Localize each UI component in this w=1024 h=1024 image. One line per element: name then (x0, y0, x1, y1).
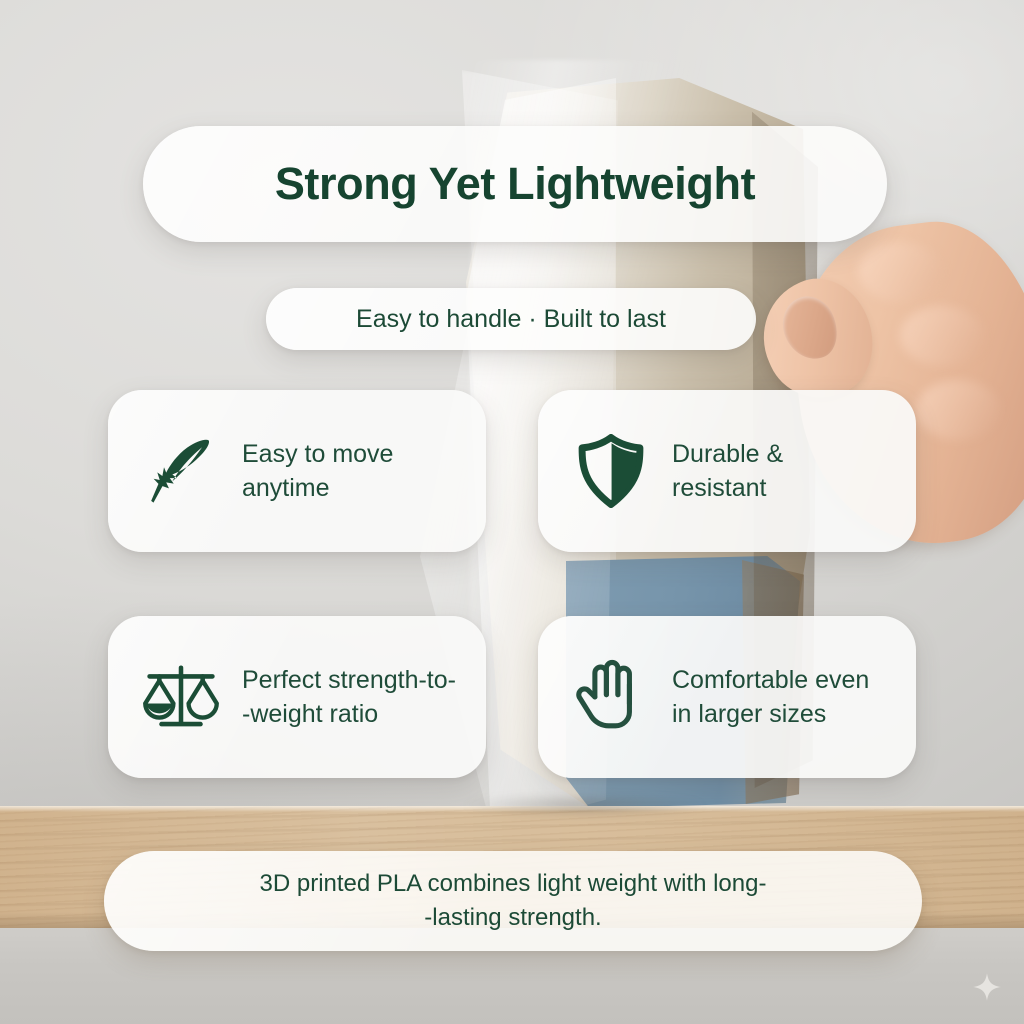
footer-pill: 3D printed PLA combines light weight wit… (104, 851, 922, 951)
title-pill: Strong Yet Lightweight (143, 126, 887, 242)
feature-card-strength-to-weight[interactable]: Perfect strength-to- -weight ratio (108, 616, 486, 778)
footer-caption: 3D printed PLA combines light weight wit… (260, 867, 767, 935)
subtitle-pill: Easy to handle · Built to last (266, 288, 756, 350)
page-title: Strong Yet Lightweight (275, 158, 755, 210)
shield-icon (572, 432, 650, 510)
feather-icon (142, 432, 220, 510)
page-subtitle: Easy to handle · Built to last (356, 305, 666, 334)
sparkle-icon (972, 972, 1002, 1002)
feature-card-durable[interactable]: Durable & resistant (538, 390, 916, 552)
hand-knuckle (900, 306, 984, 366)
open-hand-icon (572, 658, 650, 736)
hand-knuckle (858, 242, 942, 302)
object-contact-shadow (430, 790, 740, 818)
feature-label: Comfortable even in larger sizes (672, 663, 869, 732)
feature-label: Durable & resistant (672, 437, 783, 506)
balance-scale-icon (142, 658, 220, 736)
infographic-canvas: Strong Yet Lightweight Easy to handle · … (0, 0, 1024, 1024)
feature-card-easy-to-move[interactable]: Easy to move anytime (108, 390, 486, 552)
feature-label: Easy to move anytime (242, 437, 393, 506)
hand-knuckle (916, 380, 1000, 440)
feature-card-comfortable[interactable]: Comfortable even in larger sizes (538, 616, 916, 778)
feature-label: Perfect strength-to- -weight ratio (242, 663, 460, 732)
